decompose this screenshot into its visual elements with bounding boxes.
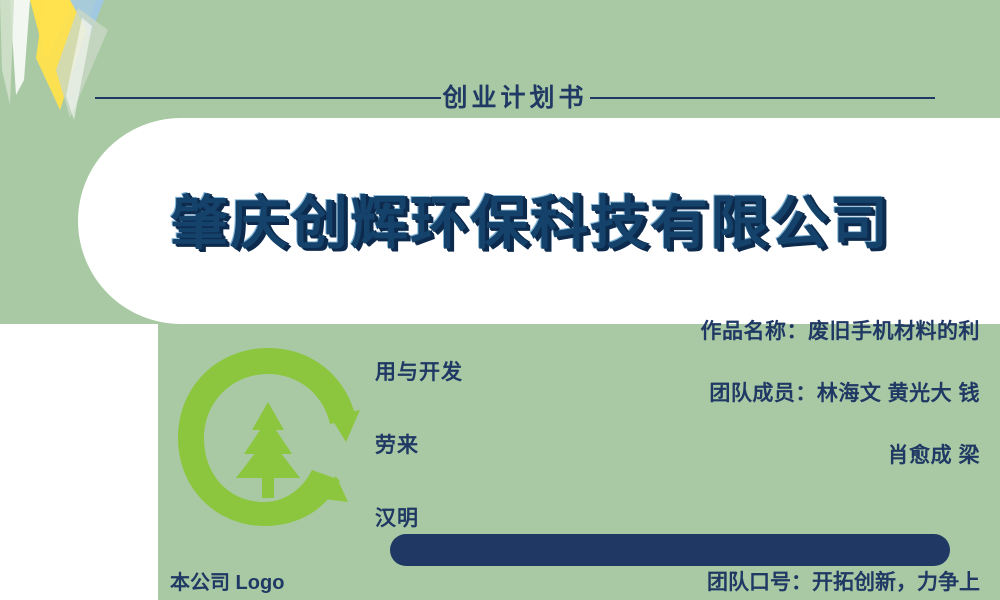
slide-canvas: 创业计划书 肇庆创辉环保科技有限公司 本公司 Logo 用与开发 劳来 汉明 作… [0, 0, 1000, 600]
blue-accent-bar [390, 534, 950, 566]
project-name-label: 作品名称：废旧手机材料的利 [560, 315, 980, 345]
recycle-tree-logo-icon [160, 330, 375, 560]
rule-right [590, 97, 936, 99]
team-members-label: 团队成员：林海文 黄光大 钱 [560, 377, 980, 407]
company-name: 肇庆创辉环保科技有限公司 [100, 176, 960, 260]
rule-left [95, 97, 441, 99]
team-members-label-cont: 肖愈成 梁 [560, 439, 980, 469]
team-slogan-label: 团队口号：开拓创新，力争上 [560, 566, 980, 596]
document-title: 创业计划书 [441, 86, 590, 111]
overflow-line-1: 用与开发 [375, 356, 565, 386]
left-white-column [0, 324, 158, 600]
project-info-block: 作品名称：废旧手机材料的利 团队成员：林海文 黄光大 钱 肖愈成 梁 [560, 315, 980, 497]
overflow-line-2: 劳来 [375, 429, 565, 459]
overflow-line-3: 汉明 [375, 502, 565, 532]
logo-caption: 本公司 Logo [170, 566, 284, 595]
header-rule: 创业计划书 [95, 78, 935, 118]
